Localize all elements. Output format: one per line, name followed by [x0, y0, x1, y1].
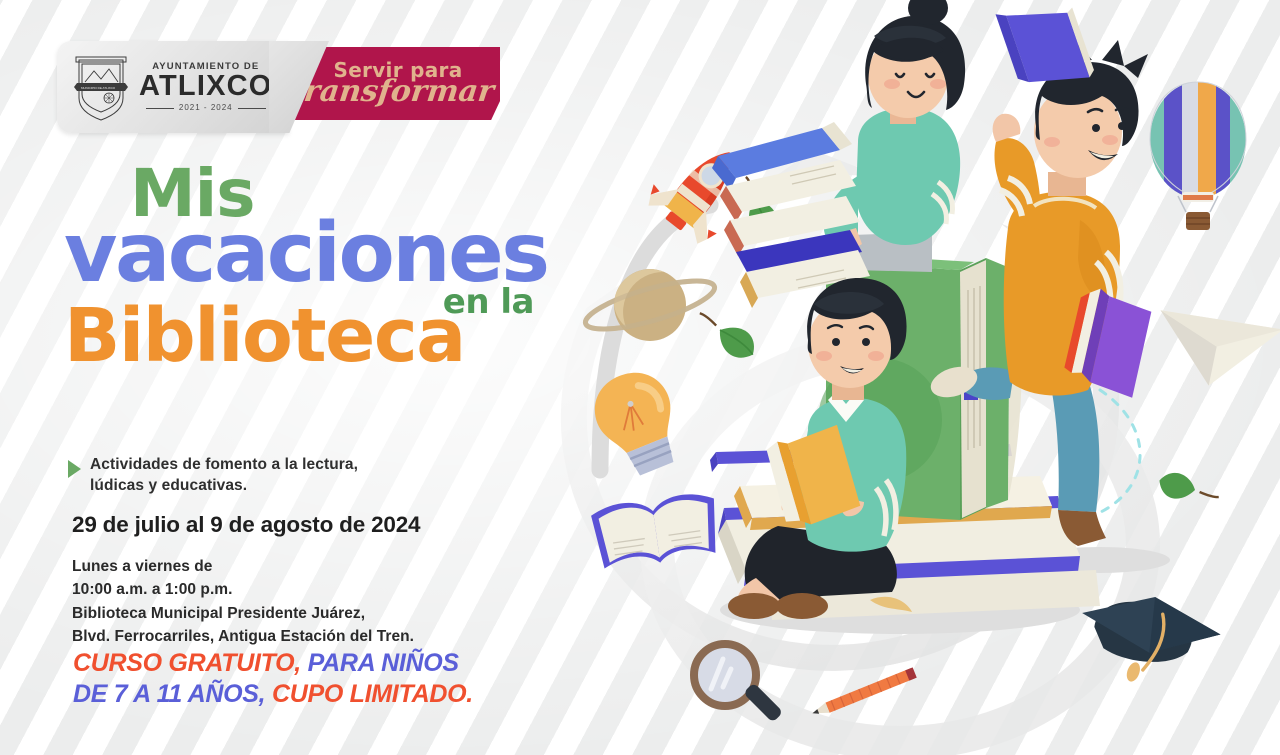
cta-part-3: DE 7 A 11 AÑOS, — [73, 680, 265, 708]
venue-line-2: Blvd. Ferrocarriles, Antigua Estación de… — [72, 628, 414, 645]
green-triangle-bullet-icon — [68, 460, 81, 478]
illustration-group — [540, 0, 1280, 755]
coat-of-arms-shield-icon: MUNICIPIO DE ATLIXCO — [73, 52, 129, 122]
event-dates: 29 de julio al 9 de agosto de 2024 — [72, 512, 420, 538]
paper-plane-icon — [1161, 298, 1280, 390]
cta-part-2: PARA NIÑOS — [308, 649, 459, 677]
schedule-and-venue: Lunes a viernes de 10:00 a.m. a 1:00 p.m… — [72, 555, 414, 648]
logo-municipality: ATLIXCO — [139, 72, 273, 101]
schedule-line-1: Lunes a viernes de — [72, 558, 212, 575]
open-book-icon — [590, 491, 722, 572]
slogan-line-2: Transformar — [282, 77, 495, 107]
logo-years-label: 2021 - 2024 — [179, 104, 233, 112]
leaf-icon — [1157, 458, 1219, 520]
description-line-1: Actividades de fomento a la lectura, — [90, 456, 358, 473]
municipal-logo-plate: MUNICIPIO DE ATLIXCO AYUNTAMIENTO DE ATL… — [57, 41, 289, 133]
saturn-planet-icon — [581, 269, 719, 341]
girl-carrying-books — [712, 0, 965, 308]
schedule-line-2: 10:00 a.m. a 1:00 p.m. — [72, 581, 233, 598]
poster-title: Mis vacaciones en la Biblioteca — [64, 165, 584, 370]
description-block: Actividades de fomento a la lectura, lúd… — [68, 455, 358, 497]
description-line-2: lúdicas y educativas. — [90, 477, 247, 494]
description-text: Actividades de fomento a la lectura, lúd… — [90, 455, 358, 497]
venue-line-1: Biblioteca Municipal Presidente Juárez, — [72, 605, 365, 622]
svg-text:MUNICIPIO DE ATLIXCO: MUNICIPIO DE ATLIXCO — [81, 86, 116, 90]
leaf-icon — [700, 305, 756, 364]
pencil-icon — [811, 667, 917, 718]
hot-air-balloon-icon — [1148, 80, 1248, 230]
logo-years: 2021 - 2024 — [146, 104, 266, 112]
magnifying-glass-icon — [694, 644, 783, 723]
call-to-action: CURSO GRATUITO, PARA NIÑOS DE 7 A 11 AÑO… — [73, 648, 473, 711]
title-line-vacaciones: vacaciones — [64, 217, 584, 291]
cta-part-1: CURSO GRATUITO, — [73, 649, 301, 677]
poster-canvas: MUNICIPIO DE ATLIXCO AYUNTAMIENTO DE ATL… — [0, 0, 1280, 755]
boy-reading-seated — [728, 278, 907, 619]
cta-part-4: CUPO LIMITADO. — [272, 680, 473, 708]
